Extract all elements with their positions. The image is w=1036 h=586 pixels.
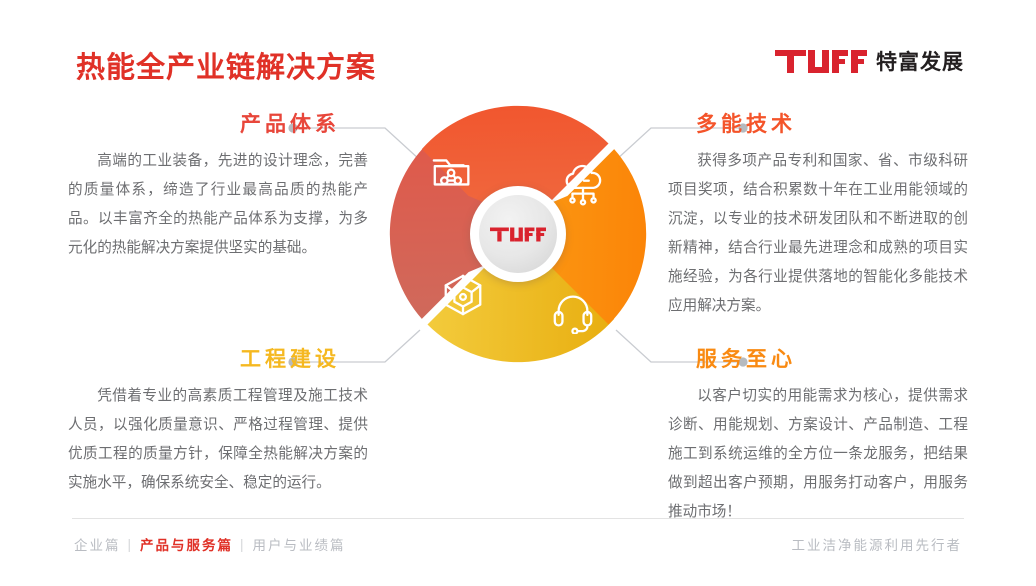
section-service-heading: 服务至心 bbox=[668, 343, 968, 373]
section-product-body: 高端的工业装备，先进的设计理念，完善的质量体系，缔造了行业最高品质的热能产品。以… bbox=[68, 147, 368, 263]
footer-divider bbox=[72, 518, 964, 519]
page-title: 热能全产业链解决方案 bbox=[76, 44, 376, 86]
tuff-logo-icon bbox=[775, 50, 867, 73]
section-product-heading: 产品体系 bbox=[68, 108, 368, 138]
footer-separator: | bbox=[128, 537, 134, 552]
footer-nav: 企业篇 | 产品与服务篇 | 用户与业绩篇 bbox=[74, 534, 346, 554]
section-engineering: 工程建设 凭借着专业的高素质工程管理及施工技术人员，以强化质量意识、严格过程管理… bbox=[68, 343, 368, 498]
brand-logo: 特富发展 bbox=[775, 46, 964, 76]
cloud-computing-icon bbox=[560, 162, 606, 208]
headset-icon bbox=[550, 288, 596, 334]
cube-3d-icon bbox=[440, 272, 486, 318]
section-product: 产品体系 高端的工业装备，先进的设计理念，完善的质量体系，缔造了行业最高品质的热… bbox=[68, 108, 368, 263]
footer-nav-item-users-performance[interactable]: 用户与业绩篇 bbox=[253, 534, 346, 554]
footer-nav-item-products-services[interactable]: 产品与服务篇 bbox=[140, 534, 233, 554]
donut-center-hub bbox=[470, 186, 566, 282]
section-engineering-body: 凭借着专业的高素质工程管理及施工技术人员，以强化质量意识、严格过程管理、提供优质… bbox=[68, 382, 368, 498]
section-technology: 多能技术 获得多项产品专利和国家、省、市级科研项目奖项，结合积累数十年在工业用能… bbox=[668, 108, 968, 321]
section-service: 服务至心 以客户切实的用能需求为核心，提供需求诊断、用能规划、方案设计、产品制造… bbox=[668, 343, 968, 527]
section-technology-body: 获得多项产品专利和国家、省、市级科研项目奖项，结合积累数十年在工业用能领域的沉淀… bbox=[668, 147, 968, 321]
footer-nav-item-enterprise[interactable]: 企业篇 bbox=[74, 534, 121, 554]
section-technology-heading: 多能技术 bbox=[668, 108, 968, 138]
brand-name: 特富发展 bbox=[876, 46, 964, 76]
footer-separator: | bbox=[240, 537, 246, 552]
folder-share-icon bbox=[430, 148, 476, 194]
center-tuff-logo-icon bbox=[490, 227, 546, 242]
donut-center-inner bbox=[479, 195, 557, 273]
donut-diagram bbox=[384, 100, 652, 368]
section-engineering-heading: 工程建设 bbox=[68, 343, 368, 373]
footer-tagline: 工业洁净能源利用先行者 bbox=[792, 534, 963, 554]
section-service-body: 以客户切实的用能需求为核心，提供需求诊断、用能规划、方案设计、产品制造、工程施工… bbox=[668, 382, 968, 527]
slide-page: 热能全产业链解决方案 特富发展 bbox=[0, 0, 1036, 586]
